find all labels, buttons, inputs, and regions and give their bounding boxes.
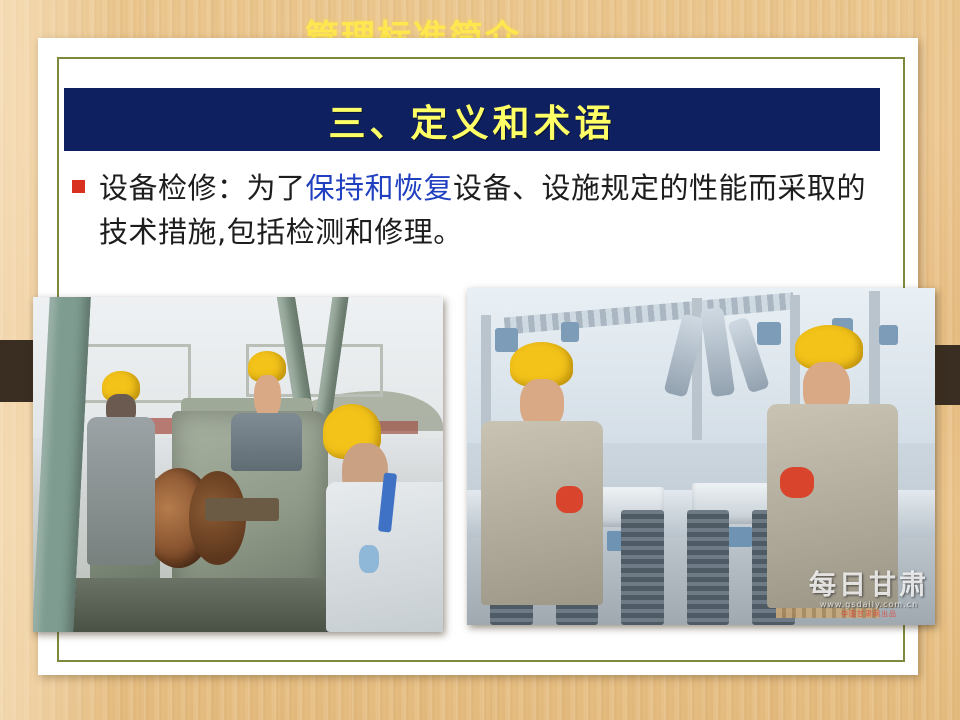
insulator-stack bbox=[621, 510, 663, 625]
photo-substation-maintenance: 每日甘肃 www.gsdaily.com.cn 中国甘肃网出品 bbox=[467, 288, 935, 625]
worker-right bbox=[767, 325, 898, 608]
red-glove bbox=[556, 486, 583, 512]
slide-canvas: 管理标准简介 三、定义和术语 设备检修：为了保持和恢复设备、设施规定的性能而采取… bbox=[0, 0, 960, 720]
worker-jacket bbox=[87, 417, 156, 565]
worker-jacket bbox=[481, 421, 603, 605]
photo-watermark: 每日甘肃 www.gsdaily.com.cn 中国甘肃网出品 bbox=[809, 572, 929, 619]
watermark-title: 每日甘肃 bbox=[809, 572, 929, 600]
worker-jacket bbox=[231, 413, 302, 471]
definition-text-prefix: 设备检修：为了 bbox=[99, 171, 306, 205]
worker-foreground-right bbox=[312, 404, 443, 632]
worker-left bbox=[481, 342, 603, 605]
insulator-stack bbox=[687, 510, 729, 625]
watermark-subtitle: 中国甘肃网出品 bbox=[809, 609, 929, 619]
red-glove bbox=[780, 467, 814, 498]
photo-right-scene: 每日甘肃 www.gsdaily.com.cn 中国甘肃网出品 bbox=[467, 288, 935, 625]
square-bullet-icon bbox=[72, 180, 85, 193]
worker-background-center bbox=[230, 351, 304, 472]
definition-paragraph: 设备检修：为了保持和恢复设备、设施规定的性能而采取的技术措施,包括检测和修理。 bbox=[99, 166, 882, 254]
definition-bullet-item: 设备检修：为了保持和恢复设备、设施规定的性能而采取的技术措施,包括检测和修理。 bbox=[72, 166, 882, 254]
section-heading-banner: 三、定义和术语 bbox=[64, 88, 880, 151]
section-heading-text: 三、定义和术语 bbox=[329, 93, 616, 147]
worker-face bbox=[254, 375, 281, 418]
photo-gearbox-maintenance bbox=[33, 297, 443, 632]
equipment-cap bbox=[561, 322, 580, 342]
worker-glove bbox=[359, 545, 379, 572]
drive-shaft bbox=[205, 498, 279, 521]
definition-text-highlight: 保持和恢复 bbox=[306, 171, 454, 205]
watermark-url: www.gsdaily.com.cn bbox=[809, 600, 929, 609]
photo-left-scene bbox=[33, 297, 443, 632]
worker-background-left bbox=[82, 371, 160, 565]
